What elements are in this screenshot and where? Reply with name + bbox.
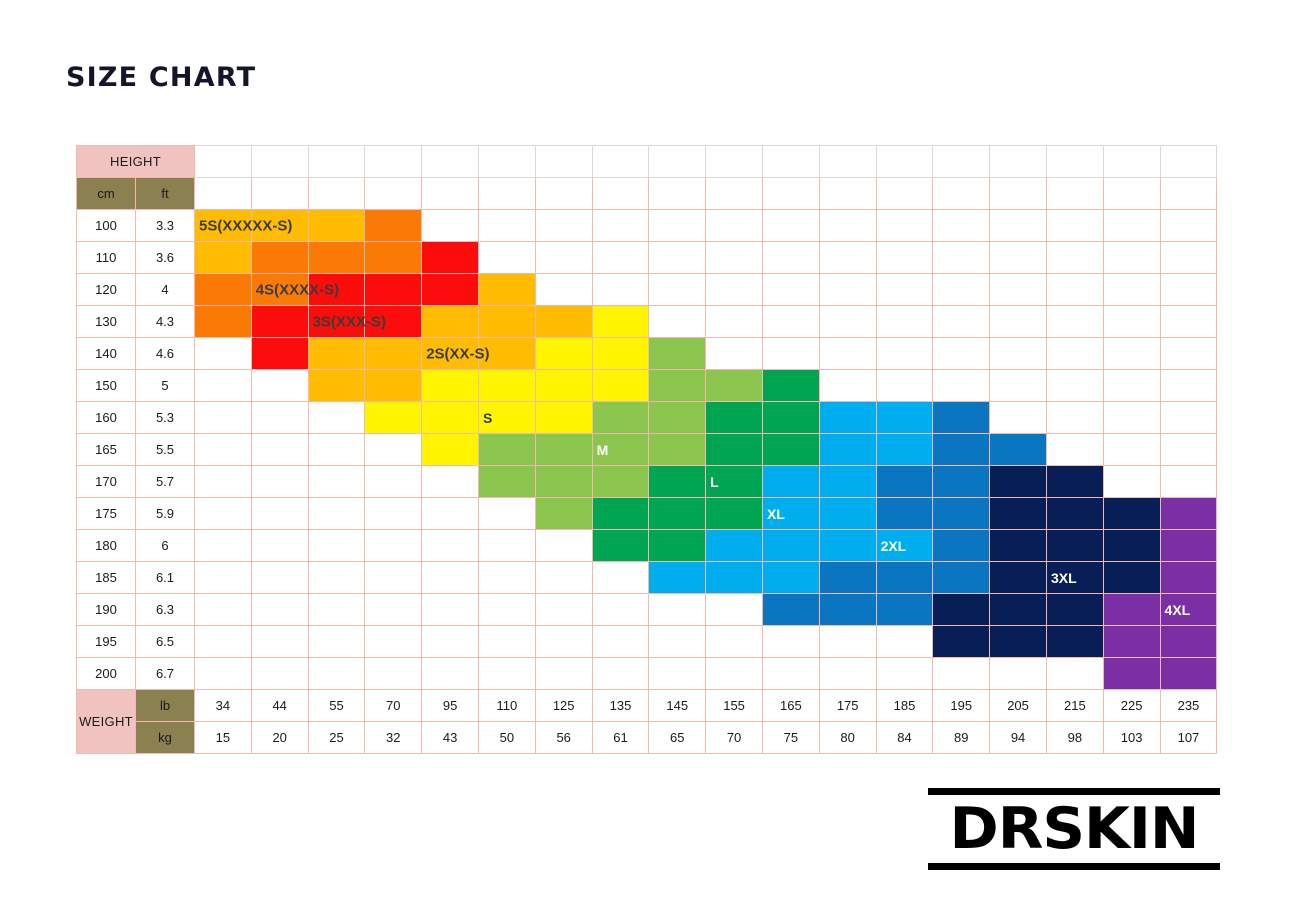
- logo-wordmark: DRSKIN: [922, 799, 1226, 859]
- grid-blank-cell: [195, 434, 252, 466]
- grid-blank-cell: [251, 466, 308, 498]
- grid-blank-cell: [308, 466, 365, 498]
- size-chart-row: 1956.5: [77, 626, 1217, 658]
- height-ft-value: 4: [136, 274, 195, 306]
- size-swatch-green: [649, 530, 706, 562]
- grid-blank-cell: [762, 658, 819, 690]
- height-cm-value: 150: [77, 370, 136, 402]
- size-swatch-ltgreen: [535, 498, 592, 530]
- size-swatch-amber: [308, 338, 365, 370]
- weight-lb-value: 155: [706, 690, 763, 722]
- grid-blank-cell: [195, 338, 252, 370]
- grid-blank-cell: [990, 242, 1047, 274]
- height-header-label: HEIGHT: [77, 146, 195, 178]
- height-ft-value: 6: [136, 530, 195, 562]
- size-swatch-amber: [308, 210, 365, 242]
- size-swatch-orange: [365, 210, 422, 242]
- weight-lb-value: 110: [478, 690, 535, 722]
- grid-blank-cell: [876, 178, 933, 210]
- size-chart-table-wrap: HEIGHTcmft1003.35S(XXXXX-S)1103.612044S(…: [76, 145, 1217, 754]
- weight-lb-value: 175: [819, 690, 876, 722]
- grid-blank-cell: [1046, 402, 1103, 434]
- grid-blank-cell: [365, 434, 422, 466]
- size-swatch-amber: [478, 274, 535, 306]
- grid-blank-cell: [251, 370, 308, 402]
- grid-blank-cell: [1103, 466, 1160, 498]
- grid-blank-cell: [876, 210, 933, 242]
- height-cm-value: 100: [77, 210, 136, 242]
- grid-blank-cell: [1103, 370, 1160, 402]
- size-chart-row: 1755.9XL: [77, 498, 1217, 530]
- size-swatch-green: [762, 402, 819, 434]
- height-ft-value: 5.9: [136, 498, 195, 530]
- size-swatch-purple: [1160, 658, 1217, 690]
- grid-blank-cell: [876, 338, 933, 370]
- size-swatch-yellow: [535, 338, 592, 370]
- grid-blank-cell: [876, 370, 933, 402]
- size-swatch-yellow: [592, 306, 649, 338]
- grid-blank-cell: [706, 594, 763, 626]
- grid-blank-cell: [422, 626, 479, 658]
- brand-logo: DRSKIN: [928, 788, 1220, 870]
- size-swatch-blue: [933, 402, 990, 434]
- size-swatch-yellow: [535, 402, 592, 434]
- grid-blank-cell: [251, 658, 308, 690]
- unit-header-kg: kg: [136, 722, 195, 754]
- grid-blank-cell: [990, 402, 1047, 434]
- grid-blank-cell: [819, 370, 876, 402]
- weight-kg-value: 75: [762, 722, 819, 754]
- size-swatch-purple: [1103, 594, 1160, 626]
- size-swatch-ltblue: [819, 434, 876, 466]
- size-swatch-yellow: [365, 402, 422, 434]
- grid-blank-cell: [308, 594, 365, 626]
- height-cm-value: 195: [77, 626, 136, 658]
- weight-kg-value: 84: [876, 722, 933, 754]
- size-swatch-blue: [819, 562, 876, 594]
- grid-blank-cell: [195, 658, 252, 690]
- weight-lb-value: 44: [251, 690, 308, 722]
- height-cm-value: 130: [77, 306, 136, 338]
- size-swatch-amber: [195, 242, 252, 274]
- weight-kg-value: 32: [365, 722, 422, 754]
- size-chart-row: 2006.7: [77, 658, 1217, 690]
- grid-blank-cell: [592, 594, 649, 626]
- height-ft-value: 6.7: [136, 658, 195, 690]
- size-swatch-ltblue: [876, 402, 933, 434]
- size-swatch-green: [592, 530, 649, 562]
- size-chart-row: 1505: [77, 370, 1217, 402]
- grid-blank-cell: [990, 306, 1047, 338]
- grid-blank-cell: [1160, 178, 1217, 210]
- grid-blank-cell: [365, 146, 422, 178]
- grid-blank-cell: [819, 146, 876, 178]
- size-swatch-navy: [1046, 594, 1103, 626]
- size-swatch-yellow: [422, 402, 479, 434]
- grid-blank-cell: [422, 530, 479, 562]
- size-swatch-navy: 3XL: [1046, 562, 1103, 594]
- grid-blank-cell: [422, 498, 479, 530]
- grid-blank-cell: [1103, 402, 1160, 434]
- grid-blank-cell: [592, 658, 649, 690]
- grid-blank-cell: [1103, 178, 1160, 210]
- weight-kg-value: 98: [1046, 722, 1103, 754]
- grid-blank-cell: [1160, 466, 1217, 498]
- size-swatch-navy: [990, 594, 1047, 626]
- size-swatch-amber: [478, 306, 535, 338]
- grid-blank-cell: [195, 626, 252, 658]
- unit-header-lb: lb: [136, 690, 195, 722]
- grid-blank-cell: [1103, 210, 1160, 242]
- grid-blank-cell: [478, 530, 535, 562]
- grid-blank-cell: [706, 242, 763, 274]
- height-ft-value: 5.3: [136, 402, 195, 434]
- size-label: XL: [767, 506, 785, 522]
- size-swatch-yellow: [422, 434, 479, 466]
- grid-blank-cell: [592, 146, 649, 178]
- height-cm-value: 170: [77, 466, 136, 498]
- grid-blank-cell: [876, 306, 933, 338]
- grid-blank-cell: [535, 242, 592, 274]
- grid-blank-cell: [1046, 434, 1103, 466]
- grid-blank-cell: [308, 434, 365, 466]
- grid-blank-cell: [478, 562, 535, 594]
- grid-blank-cell: [251, 562, 308, 594]
- header-row-units: cmft: [77, 178, 1217, 210]
- size-swatch-navy: [933, 626, 990, 658]
- grid-blank-cell: [1160, 434, 1217, 466]
- size-swatch-ltblue: [876, 434, 933, 466]
- size-swatch-ltblue: [649, 562, 706, 594]
- weight-lb-value: 205: [990, 690, 1047, 722]
- weight-kg-value: 103: [1103, 722, 1160, 754]
- grid-blank-cell: [762, 274, 819, 306]
- height-ft-value: 4.3: [136, 306, 195, 338]
- unit-header-ft: ft: [136, 178, 195, 210]
- size-chart-page: SIZE CHART HEIGHTcmft1003.35S(XXXXX-S)11…: [0, 0, 1300, 900]
- grid-blank-cell: [251, 530, 308, 562]
- grid-blank-cell: [535, 530, 592, 562]
- grid-blank-cell: [478, 626, 535, 658]
- grid-blank-cell: [1046, 370, 1103, 402]
- grid-blank-cell: [762, 626, 819, 658]
- grid-blank-cell: [535, 594, 592, 626]
- height-ft-value: 5.5: [136, 434, 195, 466]
- size-swatch-purple: 4XL: [1160, 594, 1217, 626]
- grid-blank-cell: [762, 210, 819, 242]
- size-swatch-purple: [1103, 626, 1160, 658]
- grid-blank-cell: [649, 274, 706, 306]
- grid-blank-cell: [706, 146, 763, 178]
- weight-row-kg: kg15202532435056616570758084899498103107: [77, 722, 1217, 754]
- grid-blank-cell: [195, 594, 252, 626]
- size-swatch-red: [365, 306, 422, 338]
- weight-lb-value: 34: [195, 690, 252, 722]
- grid-blank-cell: [649, 146, 706, 178]
- weight-kg-value: 65: [649, 722, 706, 754]
- size-swatch-amber: 5S(XXXXX-S): [195, 210, 252, 242]
- weight-header-label: WEIGHT: [77, 690, 136, 754]
- size-swatch-ltblue: [762, 530, 819, 562]
- grid-blank-cell: [422, 178, 479, 210]
- size-swatch-ltgreen: [478, 466, 535, 498]
- size-swatch-red: [251, 338, 308, 370]
- size-swatch-amber: [422, 306, 479, 338]
- grid-blank-cell: [933, 658, 990, 690]
- grid-blank-cell: [706, 178, 763, 210]
- grid-blank-cell: [1160, 146, 1217, 178]
- grid-blank-cell: [706, 306, 763, 338]
- size-swatch-ltgreen: [478, 434, 535, 466]
- grid-blank-cell: [933, 306, 990, 338]
- grid-blank-cell: [195, 402, 252, 434]
- logo-bottom-bar: [928, 863, 1220, 870]
- size-swatch-green: [762, 434, 819, 466]
- size-swatch-red: [422, 242, 479, 274]
- grid-blank-cell: [819, 306, 876, 338]
- size-swatch-ltblue: [819, 466, 876, 498]
- height-cm-value: 200: [77, 658, 136, 690]
- size-swatch-ltgreen: [592, 466, 649, 498]
- size-swatch-amber: 2S(XX-S): [422, 338, 479, 370]
- weight-lb-value: 55: [308, 690, 365, 722]
- size-label: 3XL: [1051, 570, 1077, 586]
- size-swatch-ltblue: [762, 466, 819, 498]
- size-swatch-navy: [990, 466, 1047, 498]
- size-swatch-orange: [195, 306, 252, 338]
- height-cm-value: 120: [77, 274, 136, 306]
- grid-blank-cell: [535, 274, 592, 306]
- grid-blank-cell: [1046, 146, 1103, 178]
- grid-blank-cell: [1160, 242, 1217, 274]
- size-swatch-ltgreen: M: [592, 434, 649, 466]
- size-swatch-amber: [308, 370, 365, 402]
- grid-blank-cell: [251, 594, 308, 626]
- grid-blank-cell: [251, 626, 308, 658]
- size-swatch-blue: [762, 594, 819, 626]
- size-swatch-ltblue: [706, 562, 763, 594]
- grid-blank-cell: [933, 338, 990, 370]
- size-swatch-ltgreen: [649, 434, 706, 466]
- size-chart-row: 1655.5M: [77, 434, 1217, 466]
- grid-blank-cell: [1046, 274, 1103, 306]
- size-swatch-ltgreen: [649, 370, 706, 402]
- size-swatch-navy: [1046, 466, 1103, 498]
- size-swatch-ltblue: [706, 530, 763, 562]
- grid-blank-cell: [990, 146, 1047, 178]
- grid-blank-cell: [535, 562, 592, 594]
- grid-blank-cell: [365, 530, 422, 562]
- grid-blank-cell: [478, 658, 535, 690]
- weight-lb-value: 185: [876, 690, 933, 722]
- grid-blank-cell: [1046, 178, 1103, 210]
- size-swatch-navy: [1103, 562, 1160, 594]
- weight-kg-value: 50: [478, 722, 535, 754]
- grid-blank-cell: [365, 658, 422, 690]
- grid-blank-cell: [990, 658, 1047, 690]
- size-swatch-purple: [1160, 530, 1217, 562]
- weight-lb-value: 125: [535, 690, 592, 722]
- weight-kg-value: 89: [933, 722, 990, 754]
- grid-blank-cell: [819, 658, 876, 690]
- size-swatch-yellow: [422, 370, 479, 402]
- grid-blank-cell: [1103, 306, 1160, 338]
- grid-blank-cell: [1046, 338, 1103, 370]
- height-ft-value: 3.6: [136, 242, 195, 274]
- grid-blank-cell: [706, 210, 763, 242]
- size-swatch-ltgreen: [706, 370, 763, 402]
- grid-blank-cell: [876, 146, 933, 178]
- size-swatch-purple: [1160, 562, 1217, 594]
- weight-kg-value: 25: [308, 722, 365, 754]
- grid-blank-cell: [422, 466, 479, 498]
- grid-blank-cell: [422, 562, 479, 594]
- grid-blank-cell: [308, 402, 365, 434]
- size-swatch-navy: [1046, 530, 1103, 562]
- height-ft-value: 5: [136, 370, 195, 402]
- height-cm-value: 165: [77, 434, 136, 466]
- size-swatch-purple: [1103, 658, 1160, 690]
- size-chart-row: 1906.34XL: [77, 594, 1217, 626]
- weight-lb-value: 235: [1160, 690, 1217, 722]
- grid-blank-cell: [1103, 338, 1160, 370]
- size-chart-row: 12044S(XXXX-S): [77, 274, 1217, 306]
- size-swatch-yellow: [535, 370, 592, 402]
- grid-blank-cell: [195, 530, 252, 562]
- size-swatch-green: [649, 466, 706, 498]
- grid-blank-cell: [706, 274, 763, 306]
- grid-blank-cell: [1046, 306, 1103, 338]
- grid-blank-cell: [251, 434, 308, 466]
- grid-blank-cell: [1103, 274, 1160, 306]
- size-swatch-ltgreen: [535, 466, 592, 498]
- size-chart-row: 1605.3S: [77, 402, 1217, 434]
- size-label: M: [597, 442, 609, 458]
- grid-blank-cell: [535, 626, 592, 658]
- weight-lb-value: 135: [592, 690, 649, 722]
- size-swatch-amber: [478, 338, 535, 370]
- weight-lb-value: 225: [1103, 690, 1160, 722]
- size-swatch-blue: [933, 466, 990, 498]
- grid-blank-cell: [649, 626, 706, 658]
- grid-blank-cell: [422, 658, 479, 690]
- size-swatch-amber: [365, 370, 422, 402]
- size-swatch-navy: [990, 530, 1047, 562]
- grid-blank-cell: [1103, 146, 1160, 178]
- grid-blank-cell: [706, 338, 763, 370]
- size-swatch-navy: [933, 594, 990, 626]
- size-chart-row: 1304.33S(XXX-S): [77, 306, 1217, 338]
- size-swatch-green: [706, 434, 763, 466]
- size-swatch-green: [706, 498, 763, 530]
- grid-blank-cell: [592, 274, 649, 306]
- size-swatch-amber: [251, 210, 308, 242]
- grid-blank-cell: [251, 498, 308, 530]
- size-chart-row: 1103.6: [77, 242, 1217, 274]
- grid-blank-cell: [1160, 306, 1217, 338]
- grid-blank-cell: [592, 626, 649, 658]
- grid-blank-cell: [478, 594, 535, 626]
- size-swatch-red: [422, 274, 479, 306]
- size-swatch-navy: [1046, 626, 1103, 658]
- size-chart-row: 1003.35S(XXXXX-S): [77, 210, 1217, 242]
- grid-blank-cell: [933, 178, 990, 210]
- grid-blank-cell: [762, 242, 819, 274]
- size-chart-row: 1856.13XL: [77, 562, 1217, 594]
- size-swatch-yellow: [592, 338, 649, 370]
- weight-lb-value: 70: [365, 690, 422, 722]
- size-swatch-ltblue: 2XL: [876, 530, 933, 562]
- grid-blank-cell: [535, 146, 592, 178]
- size-chart-row: 18062XL: [77, 530, 1217, 562]
- size-swatch-blue: [876, 594, 933, 626]
- grid-blank-cell: [1103, 434, 1160, 466]
- grid-blank-cell: [706, 626, 763, 658]
- grid-blank-cell: [592, 242, 649, 274]
- grid-blank-cell: [478, 210, 535, 242]
- grid-blank-cell: [308, 498, 365, 530]
- grid-blank-cell: [365, 562, 422, 594]
- grid-blank-cell: [1160, 338, 1217, 370]
- grid-blank-cell: [308, 626, 365, 658]
- weight-lb-value: 215: [1046, 690, 1103, 722]
- grid-blank-cell: [251, 402, 308, 434]
- grid-blank-cell: [308, 530, 365, 562]
- size-swatch-green: [592, 498, 649, 530]
- grid-blank-cell: [762, 146, 819, 178]
- grid-blank-cell: [422, 146, 479, 178]
- grid-blank-cell: [1046, 242, 1103, 274]
- height-cm-value: 110: [77, 242, 136, 274]
- grid-blank-cell: [649, 242, 706, 274]
- grid-blank-cell: [990, 370, 1047, 402]
- grid-blank-cell: [1160, 274, 1217, 306]
- grid-blank-cell: [1103, 242, 1160, 274]
- size-swatch-green: [762, 370, 819, 402]
- grid-blank-cell: [819, 242, 876, 274]
- size-chart-table: HEIGHTcmft1003.35S(XXXXX-S)1103.612044S(…: [76, 145, 1217, 754]
- size-swatch-red: 3S(XXX-S): [308, 306, 365, 338]
- size-swatch-navy: [1103, 530, 1160, 562]
- header-row-height: HEIGHT: [77, 146, 1217, 178]
- grid-blank-cell: [195, 498, 252, 530]
- size-swatch-blue: [933, 562, 990, 594]
- size-swatch-blue: [933, 498, 990, 530]
- grid-blank-cell: [251, 178, 308, 210]
- grid-blank-cell: [478, 242, 535, 274]
- weight-lb-value: 195: [933, 690, 990, 722]
- size-swatch-blue: [876, 562, 933, 594]
- size-swatch-yellow: [478, 370, 535, 402]
- size-swatch-ltgreen: [535, 434, 592, 466]
- size-swatch-navy: [990, 498, 1047, 530]
- grid-blank-cell: [1160, 402, 1217, 434]
- grid-blank-cell: [1160, 370, 1217, 402]
- grid-blank-cell: [990, 274, 1047, 306]
- grid-blank-cell: [592, 210, 649, 242]
- grid-blank-cell: [990, 178, 1047, 210]
- weight-lb-value: 95: [422, 690, 479, 722]
- size-label: 2XL: [881, 538, 907, 554]
- size-swatch-navy: [1046, 498, 1103, 530]
- grid-blank-cell: [195, 370, 252, 402]
- size-swatch-green: L: [706, 466, 763, 498]
- grid-blank-cell: [478, 178, 535, 210]
- size-swatch-red: [308, 274, 365, 306]
- height-cm-value: 185: [77, 562, 136, 594]
- grid-blank-cell: [195, 146, 252, 178]
- grid-blank-cell: [933, 370, 990, 402]
